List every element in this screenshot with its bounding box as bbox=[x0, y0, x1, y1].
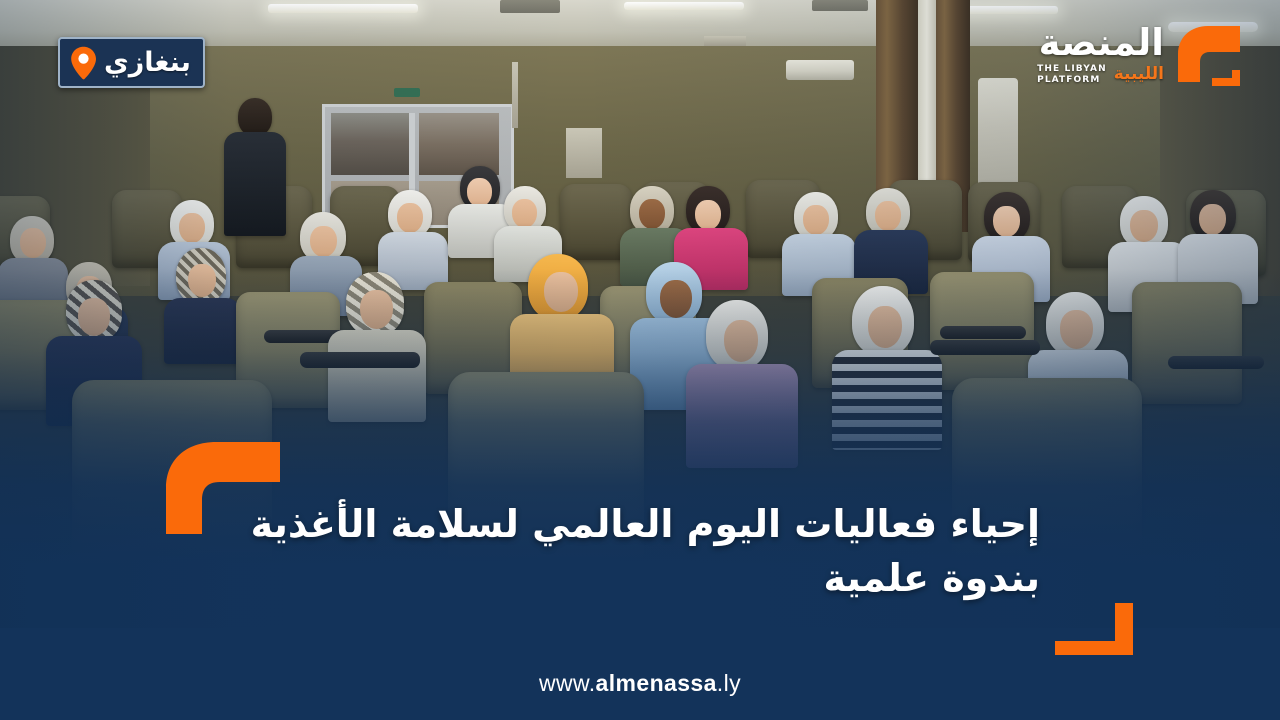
headline-line-1: إحياء فعاليات اليوم العالمي لسلامة الأغذ… bbox=[230, 498, 1040, 552]
url-name: almenassa bbox=[596, 670, 717, 696]
logo-english-name: THE LIBYAN PLATFORM bbox=[1037, 64, 1107, 86]
map-pin-icon bbox=[70, 46, 97, 80]
news-graphic-card: بنغازي المنصة THE LIBYAN PLATFORM الليبي… bbox=[0, 0, 1280, 720]
logo-arabic-subtitle: الليبية bbox=[1114, 66, 1164, 83]
platform-hook-mark-icon bbox=[1170, 20, 1248, 96]
channel-logo[interactable]: المنصة THE LIBYAN PLATFORM الليبية bbox=[1037, 20, 1248, 96]
url-prefix: www. bbox=[539, 670, 596, 696]
logo-arabic-name: المنصة bbox=[1037, 24, 1164, 61]
headline-line-2: بندوة علمية bbox=[230, 552, 1040, 606]
location-badge[interactable]: بنغازي bbox=[58, 37, 205, 88]
orange-angle-mark-icon bbox=[1055, 603, 1133, 655]
location-label: بنغازي bbox=[104, 49, 191, 76]
logo-subtitle-row: THE LIBYAN PLATFORM الليبية bbox=[1037, 64, 1164, 86]
headline: إحياء فعاليات اليوم العالمي لسلامة الأغذ… bbox=[230, 498, 1040, 606]
logo-text-block: المنصة THE LIBYAN PLATFORM الليبية bbox=[1037, 20, 1164, 86]
website-url[interactable]: www.almenassa.ly bbox=[0, 670, 1280, 697]
url-suffix: .ly bbox=[717, 670, 741, 696]
